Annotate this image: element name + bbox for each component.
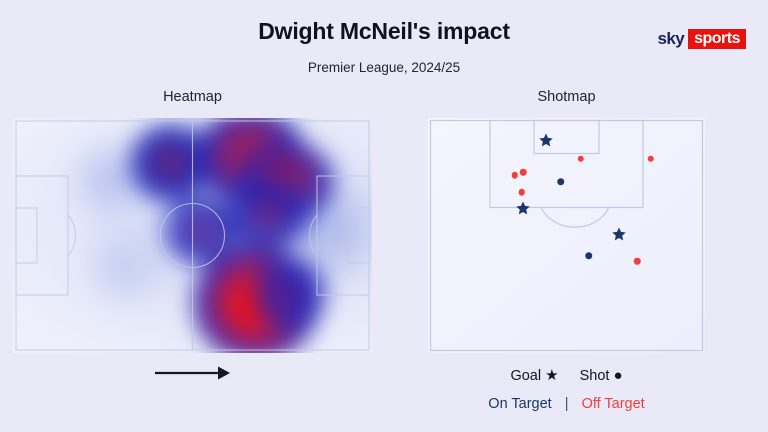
legend-goal-star-icon: ★ [545,367,558,384]
arrow-right-icon [13,358,372,388]
shot-marker-on-target[interactable] [557,178,565,186]
heatmap-panel [13,118,372,353]
shot-marker-off-target[interactable] [634,258,641,265]
heatmap-pitch-markings [13,118,372,353]
sky-sports-logo: sky sports [658,29,746,49]
legend-goal-label: Goal [510,368,541,384]
shot-marker-goal[interactable] [516,201,531,216]
sky-wordmark: sky [658,29,685,49]
shot-marker-off-target[interactable] [512,172,519,179]
legend-separator: | [556,396,578,412]
shot-marker-off-target[interactable] [519,189,526,196]
sports-wordmark: sports [688,29,746,49]
page-subtitle: Premier League, 2024/25 [0,60,768,75]
shot-marker-layer [428,118,705,353]
shot-marker-off-target[interactable] [648,156,655,163]
shotmap-legend-colors: On Target | Off Target [428,396,705,412]
shotmap-legend-symbols: Goal ★ Shot ● [428,366,705,384]
star-icon [516,201,531,216]
page-title: Dwight McNeil's impact [0,18,768,45]
star-icon [612,227,627,242]
shot-marker-on-target[interactable] [585,252,593,260]
star-icon [539,133,554,148]
shotmap-panel [428,118,705,353]
shot-marker-off-target[interactable] [578,156,585,163]
legend-shot-label: Shot [580,368,610,384]
heatmap-heading: Heatmap [13,89,372,105]
shot-marker-goal[interactable] [612,227,627,242]
shot-marker-goal[interactable] [539,133,554,148]
shot-marker-off-target[interactable] [520,169,527,176]
legend-off-target-label: Off Target [582,396,645,412]
legend-shot-dot-icon: ● [614,367,623,384]
legend-on-target-label: On Target [488,396,551,412]
shotmap-heading: Shotmap [428,89,705,105]
